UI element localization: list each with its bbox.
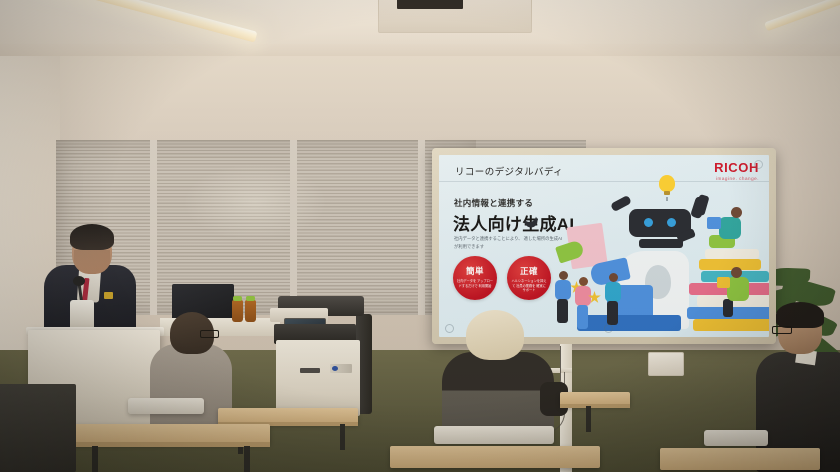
figure-torso xyxy=(605,282,621,302)
drink-bottle xyxy=(232,300,243,322)
slide-corner-marker xyxy=(604,324,613,333)
wall-outlet-plate xyxy=(648,352,684,376)
figure-legs xyxy=(607,301,618,325)
attendee-glasses xyxy=(200,330,219,338)
illustration-person-legs xyxy=(723,299,733,317)
classroom-desk xyxy=(660,448,820,470)
figure-head xyxy=(559,271,568,280)
robot-eye xyxy=(667,218,676,227)
bottle-cap xyxy=(233,296,242,301)
attendee-head xyxy=(466,310,524,360)
desk-leg xyxy=(586,406,591,432)
lightbulb-base xyxy=(664,191,670,195)
slide-badge: 簡単 社内データを アップロードするだけで 利用開始 xyxy=(453,256,497,300)
slide-corner-marker xyxy=(445,324,454,333)
slide-kicker: 社内情報と連携する xyxy=(454,197,533,209)
slide-header-title: リコーのデジタルバディ xyxy=(455,164,563,178)
illustration-person-head xyxy=(731,267,742,278)
attendee-glasses xyxy=(772,326,792,334)
microphone-base xyxy=(70,300,94,330)
slide-corner-marker xyxy=(754,160,763,169)
figure-torso xyxy=(575,286,591,306)
badge-subtitle: 社内データを アップロードするだけで 利用開始 xyxy=(453,279,497,288)
window-mullion xyxy=(418,140,425,315)
book-stack-item xyxy=(693,319,769,331)
figure-torso xyxy=(555,280,571,300)
figure-head xyxy=(609,273,618,282)
desk-leg xyxy=(340,424,345,450)
robot-base xyxy=(577,315,681,331)
presenter-hair xyxy=(70,224,114,250)
desk-leg xyxy=(244,446,250,472)
book-stack-item xyxy=(699,259,761,270)
robot-neck xyxy=(639,239,683,248)
attendee-hair xyxy=(776,302,824,328)
printer-badge-dot xyxy=(332,366,338,371)
desk-edge xyxy=(560,404,630,408)
window-light-glow xyxy=(185,165,325,240)
drink-bottle xyxy=(245,300,256,322)
vent-opening xyxy=(397,0,463,9)
slide-body-text: 社内データと連携することにより、 適した場所の生成AIが利用できます xyxy=(454,235,564,250)
desk-leg xyxy=(92,446,98,472)
illustration-open-book xyxy=(707,217,721,229)
badge-title: 正確 xyxy=(507,265,551,277)
classroom-desk xyxy=(60,424,270,444)
robot-antenna xyxy=(610,195,632,212)
window-mullion xyxy=(150,140,157,315)
book-stack-item xyxy=(705,249,759,259)
figure-legs xyxy=(577,305,588,329)
classroom-desk xyxy=(390,446,600,468)
lightbulb-stem xyxy=(666,197,668,201)
presenter-face-shadow xyxy=(74,250,110,272)
chair-backrest[interactable] xyxy=(128,398,204,414)
printer-paper-drawer xyxy=(276,340,360,416)
bottle-cap xyxy=(246,296,255,301)
microphone-head xyxy=(73,276,85,286)
storage-cabinet xyxy=(0,384,76,472)
multifunction-printer[interactable] xyxy=(272,294,370,416)
printer-brand-label xyxy=(300,368,320,373)
figure-legs xyxy=(557,299,568,323)
presenter-lapel-pin xyxy=(104,292,113,299)
window-mullion xyxy=(290,140,297,315)
illustration-person-body xyxy=(719,217,741,239)
chair-backrest[interactable] xyxy=(704,430,768,446)
lightbulb-icon xyxy=(659,175,675,192)
figure-head xyxy=(579,277,588,286)
badge-title: 簡単 xyxy=(453,265,497,277)
ceiling-vent xyxy=(378,0,532,33)
illustration-person-body xyxy=(727,277,749,301)
chair-backrest[interactable] xyxy=(434,426,554,444)
badge-subtitle: ハルシネーションを抑えて 社員の業務を 確実にサポート xyxy=(507,279,551,293)
robot-eye xyxy=(644,218,653,227)
illustration-person-head xyxy=(731,207,742,218)
photo-scene: リコーのデジタルバディ RICOH imagine. change. 社内情報と… xyxy=(0,0,840,472)
slide-badge: 正確 ハルシネーションを抑えて 社員の業務を 確実にサポート xyxy=(507,256,551,300)
illustration-open-book xyxy=(717,277,730,288)
